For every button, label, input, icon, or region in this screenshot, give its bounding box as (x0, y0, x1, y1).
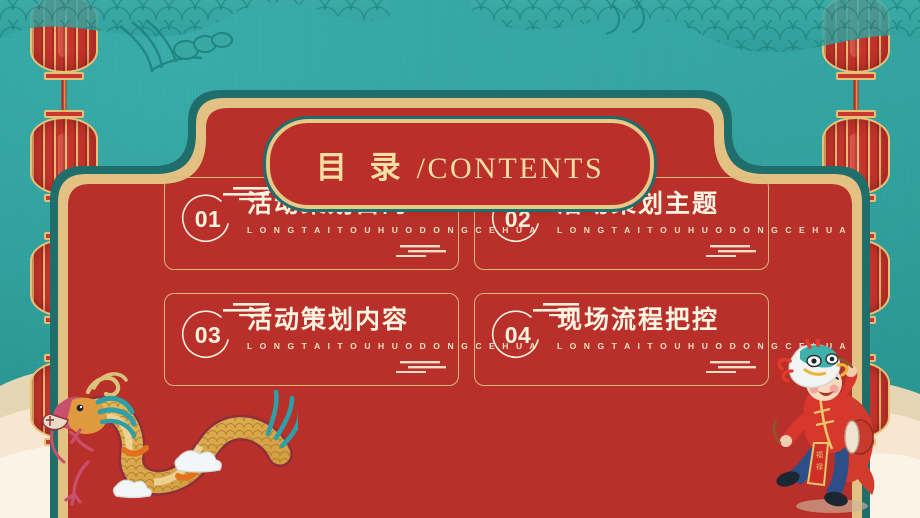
decor-lines-icon (704, 244, 756, 260)
contents-item-04[interactable]: 04 现场流程把控 L O N G T A I T O U H U O D O … (474, 293, 769, 386)
item-title-pinyin: L O N G T A I T O U H U O D O N G C E H … (557, 341, 758, 351)
contents-title: 目 录 /CONTENTS (316, 142, 604, 187)
title-english: /CONTENTS (417, 152, 605, 186)
slide-canvas: 目 录 /CONTENTS 01 活动策划 (0, 0, 920, 518)
contents-title-pill: 目 录 /CONTENTS (266, 119, 654, 209)
title-chinese: 目 录 (316, 142, 407, 187)
svg-text:福: 福 (816, 450, 823, 459)
boy-illustration: 福 禄 (756, 339, 906, 514)
item-title-pinyin: L O N G T A I T O U H U O D O N G C E H … (247, 341, 448, 351)
item-text-block: 活动策划内容 L O N G T A I T O U H U O D O N G… (247, 306, 448, 351)
item-title-pinyin: L O N G T A I T O U H U O D O N G C E H … (247, 225, 448, 235)
item-title-chinese: 现场流程把控 (557, 306, 758, 335)
decor-lines-icon (394, 244, 446, 260)
item-title-chinese: 活动策划内容 (247, 306, 448, 335)
decor-lines-icon (704, 360, 756, 376)
svg-text:禄: 禄 (816, 462, 823, 471)
decor-lines-icon (394, 360, 446, 376)
dragon-illustration (28, 358, 298, 518)
item-title-pinyin: L O N G T A I T O U H U O D O N G C E H … (557, 225, 758, 235)
item-text-block: 现场流程把控 L O N G T A I T O U H U O D O N G… (557, 306, 758, 351)
